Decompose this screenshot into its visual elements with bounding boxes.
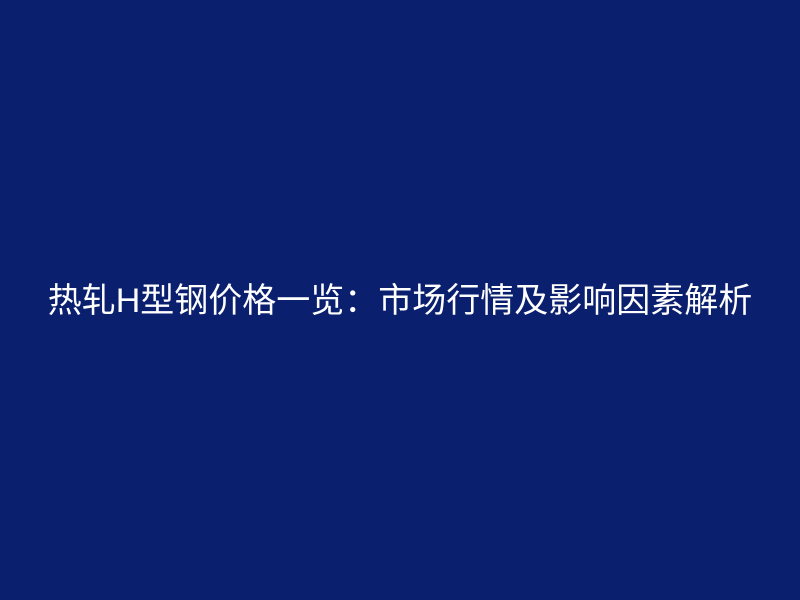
- page-title: 热轧H型钢价格一览：市场行情及影响因素解析: [48, 278, 753, 324]
- title-band: 热轧H型钢价格一览：市场行情及影响因素解析: [0, 278, 800, 324]
- title-card: 热轧H型钢价格一览：市场行情及影响因素解析: [0, 0, 800, 600]
